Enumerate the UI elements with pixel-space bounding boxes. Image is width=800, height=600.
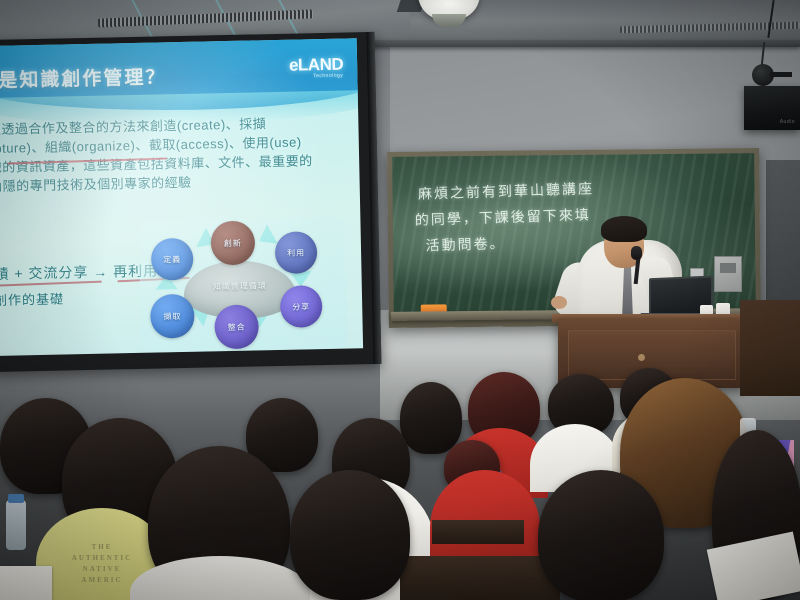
slide-emphasis-line-2: 是創作的基礎	[0, 288, 64, 309]
presentation-slide: 麼是知識創作管理？ eLAND Technology 一種透過合作及整合的方法來…	[0, 38, 363, 356]
diagram-node-define: 定義	[151, 238, 194, 281]
slide-body-text: 一種透過合作及整合的方法來創造(create)、採擷 (capture)、組織(…	[0, 112, 363, 196]
bottle-cap	[8, 494, 24, 503]
speaker-hand	[551, 296, 567, 309]
lecture-hall-photo: 麼是知識創作管理？ eLAND Technology 一種透過合作及整合的方法來…	[0, 0, 800, 600]
eland-logo: eLAND Technology	[289, 55, 344, 80]
audience-head	[290, 470, 410, 600]
diagram-node-integrate: 整合	[214, 304, 259, 349]
diagram-node-innovate: 創新	[210, 220, 255, 265]
microphone-icon	[631, 246, 642, 260]
diagram-node-capture: 擷取	[150, 294, 195, 339]
audience-head	[400, 382, 462, 454]
knowledge-cycle-diagram: 知識管理循環 定義 創新 利用 擷取 整合 分享	[138, 217, 347, 353]
wall-panel-inset	[720, 263, 736, 273]
diagram-node-share: 分享	[280, 285, 323, 328]
projection-screen: 麼是知識創作管理？ eLAND Technology 一種透過合作及整合的方法來…	[0, 32, 381, 372]
podium-knob	[638, 354, 645, 361]
water-bottle	[6, 500, 26, 550]
desk	[432, 520, 524, 544]
audience-head	[538, 470, 664, 600]
wall-mounted-speaker: Audio	[744, 86, 800, 130]
speaker-brand-label: Audio	[780, 119, 795, 125]
diagram-node-use: 利用	[275, 231, 318, 274]
speaker-hair	[601, 216, 647, 242]
wall-control-panel	[714, 256, 742, 292]
shirt-text-line: AUTHENTIC	[36, 553, 168, 564]
podium-side-cabinet	[740, 300, 800, 396]
slide-title: 麼是知識創作管理？	[0, 61, 238, 93]
diagram-center-label: 知識管理循環	[184, 280, 296, 293]
blackboard-handwriting: 麻煩之前有到華山聽講座 的同學，下課後留下來填 活動問卷。	[418, 172, 720, 259]
speaker-arm	[770, 72, 792, 77]
side-door	[766, 160, 800, 310]
desk	[400, 556, 560, 600]
cycle-arrow-icon	[254, 224, 278, 251]
handout-paper	[0, 566, 52, 600]
